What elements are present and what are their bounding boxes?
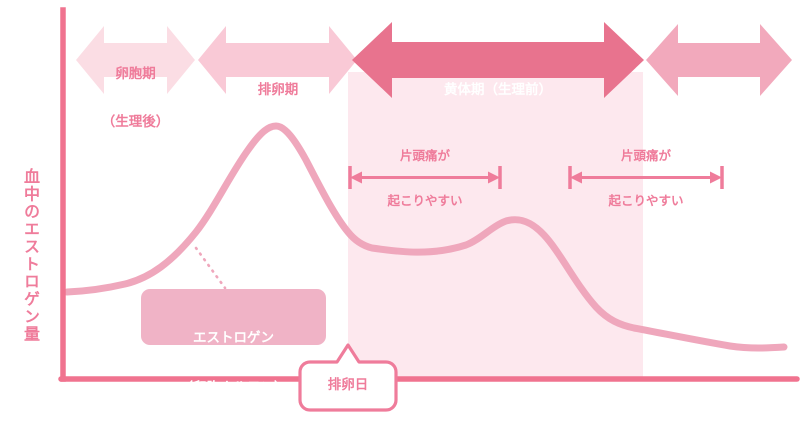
phase-arrow-menstruation — [646, 24, 792, 96]
estrogen-label-box — [141, 289, 326, 345]
chart-figure: 血中のエストロゲン量 卵胞期 （生理後） 排卵期 黄体期（生理前） 月経 片頭痛… — [0, 0, 800, 416]
phase-arrow-follicular — [76, 26, 195, 94]
chart-canvas — [0, 0, 800, 416]
phase-arrow-ovulation — [198, 26, 357, 94]
estrogen-leader-line — [196, 248, 225, 288]
